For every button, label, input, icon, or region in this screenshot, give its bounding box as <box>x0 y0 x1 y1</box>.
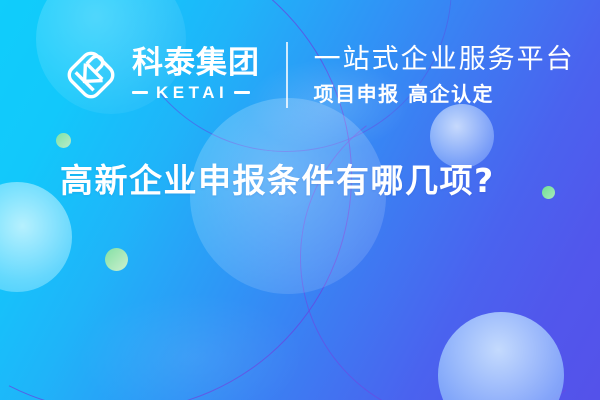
decorative-dot-green-upper <box>56 133 71 148</box>
decorative-wash-bottom <box>76 292 306 400</box>
logo-rule-right-icon <box>234 91 250 94</box>
slogan-block: 一站式企业服务平台 项目申报 高企认定 <box>314 44 575 105</box>
logo-rule-left-icon <box>132 91 148 94</box>
decorative-dot-green-left <box>105 248 128 271</box>
ketai-kp-monogram-icon <box>60 44 122 106</box>
slogan-primary: 一站式企业服务平台 <box>314 44 575 75</box>
header-divider <box>286 42 288 108</box>
logo-company-name-cn: 科泰集团 <box>132 47 260 80</box>
logo-company-name-en-row: KETAI <box>132 83 260 103</box>
logo-wordmark: 科泰集团 KETAI <box>132 47 260 103</box>
banner-headline: 高新企业申报条件有哪几项? <box>60 154 495 202</box>
decorative-dot-green-right <box>542 186 555 199</box>
promo-banner: 科泰集团 KETAI 一站式企业服务平台 项目申报 高企认定 高新企业申报条件有… <box>0 0 600 400</box>
logo-company-name-en: KETAI <box>156 83 228 103</box>
decorative-arc-right <box>279 71 600 400</box>
decorative-circle-bottom-right <box>438 312 564 400</box>
slogan-secondary: 项目申报 高企认定 <box>314 82 575 106</box>
banner-header: 科泰集团 KETAI 一站式企业服务平台 项目申报 高企认定 <box>60 36 575 114</box>
